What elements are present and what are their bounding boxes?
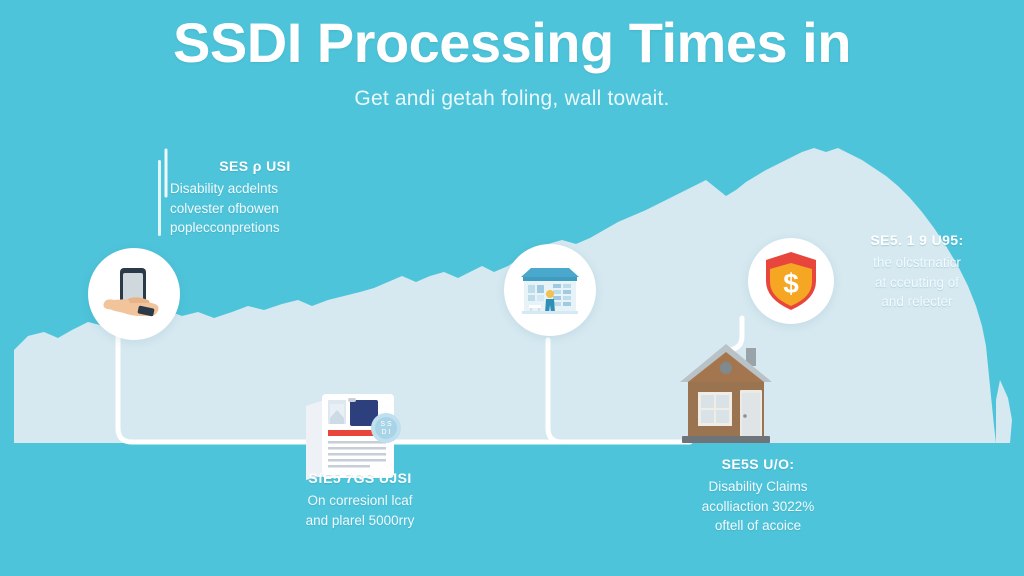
callout-line: colvester ofbowen xyxy=(170,199,340,219)
callout-line: oftell of acoice xyxy=(658,516,858,536)
building-icon-bubble[interactable] xyxy=(504,244,596,336)
callout-shield-stage: SE5. 1 9 U95: the olcstrnaticr at cceutt… xyxy=(822,232,1012,312)
callout-heading: SES ρ USI xyxy=(170,158,340,174)
page-subtitle: Get andi getah foling, wall towait. xyxy=(0,87,1024,111)
svg-text:D I: D I xyxy=(382,429,391,436)
callout-line: Disability acdelnts xyxy=(170,179,340,199)
government-building-icon xyxy=(513,253,587,327)
infographic-canvas: SSDI Processing Times in Get andi getah … xyxy=(0,0,1024,576)
callout-line: and plarel 5000rry xyxy=(262,511,458,531)
callout-line: Disability Claims xyxy=(658,477,858,497)
callout-heading: SfE5 7GS UJSI xyxy=(262,470,458,486)
house-icon-wrap[interactable] xyxy=(668,330,784,446)
page-title: SSDI Processing Times in xyxy=(0,14,1024,73)
house-icon xyxy=(668,330,784,446)
callout-line: the olcstrnaticr xyxy=(822,253,1012,273)
callout-line: and relecter xyxy=(822,292,1012,312)
svg-text:$: $ xyxy=(783,268,799,299)
callout-house-stage: SE5S U/O: Disability Claims acolliaction… xyxy=(658,456,858,536)
callout-line: poplecconpretions xyxy=(170,218,340,238)
callout-phone-stage: SES ρ USI Disability acdelnts colvester … xyxy=(158,158,340,238)
hand-holding-phone-icon xyxy=(98,258,170,330)
callout-heading: SE5. 1 9 U95: xyxy=(822,232,1012,248)
dollar-shield-icon: $ xyxy=(761,249,821,313)
callout-document-stage: SfE5 7GS UJSI On corresionl lcaf and pla… xyxy=(262,470,458,530)
callout-bracket xyxy=(158,160,161,236)
callout-line: at cceutting of xyxy=(822,273,1012,293)
callout-heading: SE5S U/O: xyxy=(658,456,858,472)
phone-icon-bubble[interactable] xyxy=(88,248,180,340)
title-block: SSDI Processing Times in Get andi getah … xyxy=(0,14,1024,111)
callout-line: On corresionl lcaf xyxy=(262,491,458,511)
callout-line: acolliaction 3022% xyxy=(658,497,858,517)
svg-text:S S: S S xyxy=(380,421,392,428)
